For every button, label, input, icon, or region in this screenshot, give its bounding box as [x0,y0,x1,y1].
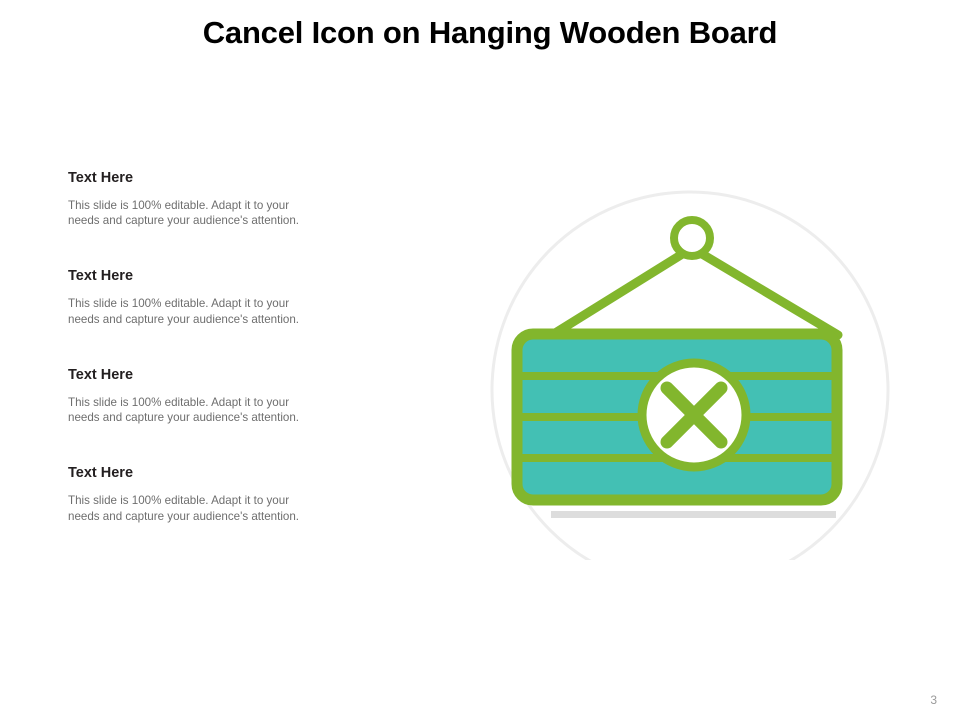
text-block-heading: Text Here [68,367,368,384]
text-block: Text Here This slide is 100% editable. A… [68,170,368,228]
text-block-heading: Text Here [68,170,368,187]
page-number: 3 [930,694,937,706]
hanging-board-icon [470,160,930,560]
text-block-body: This slide is 100% editable. Adapt it to… [68,395,320,426]
text-block-body: This slide is 100% editable. Adapt it to… [68,198,320,229]
text-block: Text Here This slide is 100% editable. A… [68,465,368,523]
hanger-ring-icon [674,220,710,256]
slide-canvas: Cancel Icon on Hanging Wooden Board Text… [0,0,960,720]
page-title: Cancel Icon on Hanging Wooden Board [70,16,910,50]
text-block-heading: Text Here [68,268,368,285]
text-block-body: This slide is 100% editable. Adapt it to… [68,296,320,327]
hanger-rope-icon [552,248,838,335]
ground-shadow-bar [551,511,836,518]
text-block-body: This slide is 100% editable. Adapt it to… [68,493,320,524]
text-column: Text Here This slide is 100% editable. A… [68,170,368,524]
text-block-heading: Text Here [68,465,368,482]
text-block: Text Here This slide is 100% editable. A… [68,268,368,326]
text-block: Text Here This slide is 100% editable. A… [68,367,368,425]
